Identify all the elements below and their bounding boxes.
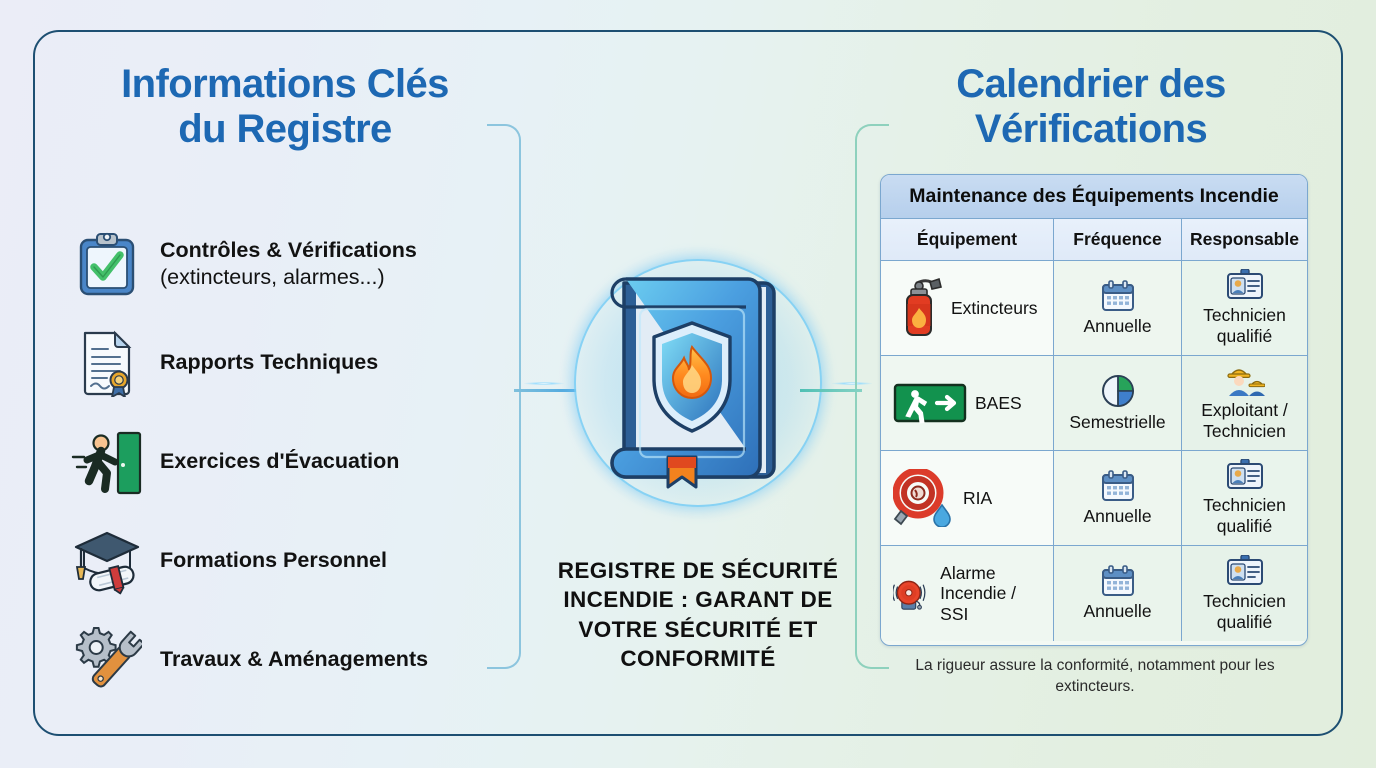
right-panel-title: Calendrier des Vérifications <box>866 62 1316 152</box>
table-row: Alarme Incendie / SSI Annuelle <box>881 546 1307 641</box>
cell-frequency: Annuelle <box>1053 546 1181 641</box>
key-information-list: Contrôles & Vérifications (extincteurs, … <box>70 214 510 709</box>
center-panel: REGISTRE DE SÉCURITÉ INCENDIE : GARANT D… <box>538 222 858 672</box>
right-panel: Calendrier des Vérifications <box>866 62 1316 152</box>
left-bracket-connector <box>487 124 521 669</box>
left-panel-title: Informations Clés du Registre <box>60 62 510 152</box>
alarm-bell-icon <box>893 565 932 623</box>
spark-left-icon <box>524 382 564 385</box>
cell-equipment: Extincteurs <box>881 261 1053 355</box>
maintenance-table: Maintenance des Équipements Incendie Équ… <box>880 174 1308 646</box>
calendar-icon <box>1101 470 1135 502</box>
list-item-title: Travaux & Aménagements <box>160 646 428 672</box>
list-item: Contrôles & Vérifications (extincteurs, … <box>70 214 510 313</box>
emergency-exit-sign-icon <box>893 381 967 425</box>
cell-responsible: Technicien qualifié <box>1181 261 1307 355</box>
frequency-label: Semestrielle <box>1069 412 1165 433</box>
table-row: RIA Annuelle <box>881 451 1307 546</box>
cell-responsible: Technicien qualifié <box>1181 451 1307 545</box>
table-row: Extincteurs Annuelle <box>881 261 1307 356</box>
column-header-frequency: Fréquence <box>1053 219 1181 260</box>
right-connector-line <box>800 389 862 392</box>
document-certificate-icon <box>70 326 144 400</box>
left-title-line2: du Registre <box>60 107 510 152</box>
cell-frequency: Semestrielle <box>1053 356 1181 450</box>
cell-equipment: BAES <box>881 356 1053 450</box>
list-item: Travaux & Aménagements <box>70 610 510 709</box>
responsible-label: Exploitant / Technicien <box>1188 400 1301 441</box>
infographic-canvas: Informations Clés du Registre C <box>0 0 1376 768</box>
clipboard-check-icon <box>70 227 144 301</box>
hard-hat-worker-icon <box>1225 364 1265 396</box>
left-title-line1: Informations Clés <box>60 62 510 107</box>
calendar-icon <box>1101 565 1135 597</box>
list-item: Exercices d'Évacuation <box>70 412 510 511</box>
frequency-label: Annuelle <box>1083 316 1151 337</box>
column-header-equipment: Équipement <box>881 219 1053 260</box>
table-row: BAES Semestrielle <box>881 356 1307 451</box>
equipment-label: Alarme Incendie / SSI <box>940 563 1047 624</box>
center-caption: REGISTRE DE SÉCURITÉ INCENDIE : GARANT D… <box>538 556 858 673</box>
list-item-text: Rapports Techniques <box>160 349 378 375</box>
running-exit-icon <box>70 425 144 499</box>
list-item-text: Formations Personnel <box>160 547 387 573</box>
list-item-title: Formations Personnel <box>160 547 387 573</box>
frequency-label: Annuelle <box>1083 601 1151 622</box>
fire-hose-reel-icon <box>893 469 955 527</box>
frequency-label: Annuelle <box>1083 506 1151 527</box>
list-item: Formations Personnel <box>70 511 510 610</box>
list-item-subtitle: (extincteurs, alarmes...) <box>160 264 417 290</box>
id-badge-icon <box>1226 269 1264 301</box>
cell-responsible: Exploitant / Technicien <box>1181 356 1307 450</box>
list-item-title: Exercices d'Évacuation <box>160 448 399 474</box>
list-item: Rapports Techniques <box>70 313 510 412</box>
equipment-label: Extincteurs <box>951 298 1038 318</box>
fire-safety-register-book-icon <box>538 222 858 544</box>
fire-extinguisher-icon <box>893 277 943 339</box>
responsible-label: Technicien qualifié <box>1188 495 1301 536</box>
column-header-responsible: Responsable <box>1181 219 1307 260</box>
cell-frequency: Annuelle <box>1053 451 1181 545</box>
right-title-line1: Calendrier des <box>866 62 1316 107</box>
list-item-title: Rapports Techniques <box>160 349 378 375</box>
equipment-label: BAES <box>975 393 1022 413</box>
table-banner: Maintenance des Équipements Incendie <box>881 175 1307 219</box>
table-note: La rigueur assure la conformité, notamme… <box>890 656 1300 698</box>
id-badge-icon <box>1226 555 1264 587</box>
list-item-text: Exercices d'Évacuation <box>160 448 399 474</box>
id-badge-icon <box>1226 459 1264 491</box>
gear-wrench-icon <box>70 623 144 697</box>
responsible-label: Technicien qualifié <box>1188 591 1301 632</box>
left-panel: Informations Clés du Registre C <box>60 62 510 682</box>
responsible-label: Technicien qualifié <box>1188 305 1301 346</box>
list-item-text: Travaux & Aménagements <box>160 646 428 672</box>
equipment-label: RIA <box>963 488 992 508</box>
cell-equipment: RIA <box>881 451 1053 545</box>
list-item-text: Contrôles & Vérifications (extincteurs, … <box>160 237 417 289</box>
table-header-row: Équipement Fréquence Responsable <box>881 219 1307 261</box>
pie-chart-icon <box>1101 374 1135 408</box>
cell-equipment: Alarme Incendie / SSI <box>881 546 1053 641</box>
right-title-line2: Vérifications <box>866 107 1316 152</box>
graduation-cap-diploma-icon <box>70 524 144 598</box>
calendar-icon <box>1101 280 1135 312</box>
cell-responsible: Technicien qualifié <box>1181 546 1307 641</box>
list-item-title: Contrôles & Vérifications <box>160 237 417 263</box>
cell-frequency: Annuelle <box>1053 261 1181 355</box>
